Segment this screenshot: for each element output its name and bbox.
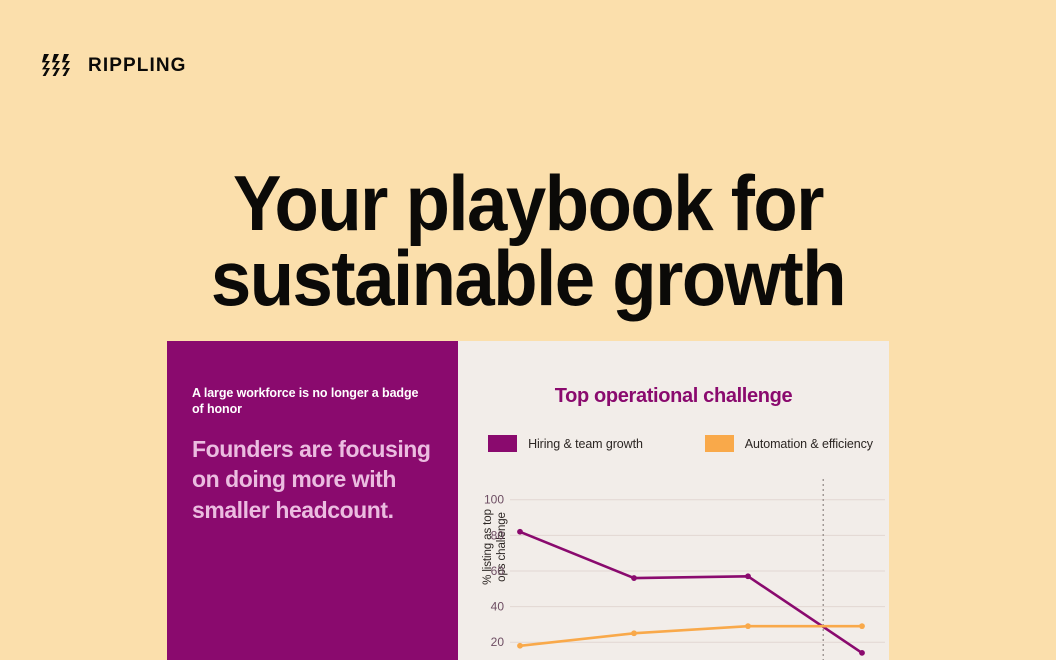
- card-chart-panel: Top operational challenge Hiring & team …: [458, 341, 889, 660]
- chart-y-axis-label: % listing as top ops challenge: [461, 367, 523, 487]
- headline-line-2: sustainable growth: [37, 241, 1019, 316]
- chart-data-point: [631, 575, 637, 581]
- legend-item-automation: Automation & efficiency: [705, 435, 873, 452]
- chart-data-point: [745, 623, 751, 629]
- card-heading: Founders are focusing on doing more with…: [192, 434, 432, 526]
- chart-data-point: [517, 529, 523, 535]
- legend-label-hiring: Hiring & team growth: [528, 437, 643, 451]
- chart-y-tick-label: 80: [491, 528, 505, 542]
- chart-data-point: [517, 643, 523, 649]
- legend-label-automation: Automation & efficiency: [745, 437, 873, 451]
- brand-logo: RIPPLING: [42, 53, 187, 77]
- chart-y-tick-label: 40: [491, 600, 505, 614]
- card-left-panel: A large workforce is no longer a badge o…: [167, 341, 458, 660]
- poster-page: RIPPLING Your playbook for sustainable g…: [0, 0, 1056, 660]
- chart-line-series-0: [520, 532, 862, 653]
- chart-data-point: [859, 623, 865, 629]
- chart-y-tick-label: 60: [491, 564, 505, 578]
- chart-svg: 20406080100: [458, 479, 889, 660]
- rippling-waves-icon: [42, 53, 77, 77]
- insight-card: A large workforce is no longer a badge o…: [167, 341, 889, 660]
- chart-data-point: [745, 573, 751, 579]
- chart-data-point: [631, 630, 637, 636]
- chart-y-tick-label: 20: [491, 635, 505, 649]
- chart-line-series-1: [520, 626, 862, 646]
- legend-swatch-orange: [705, 435, 734, 452]
- chart-plot-area: % listing as top ops challenge 204060801…: [458, 479, 889, 660]
- chart-y-tick-label: 100: [484, 493, 504, 507]
- chart-data-point: [859, 650, 865, 656]
- page-title: Your playbook for sustainable growth: [37, 166, 1019, 316]
- card-eyebrow: A large workforce is no longer a badge o…: [192, 385, 432, 418]
- brand-name: RIPPLING: [88, 56, 187, 75]
